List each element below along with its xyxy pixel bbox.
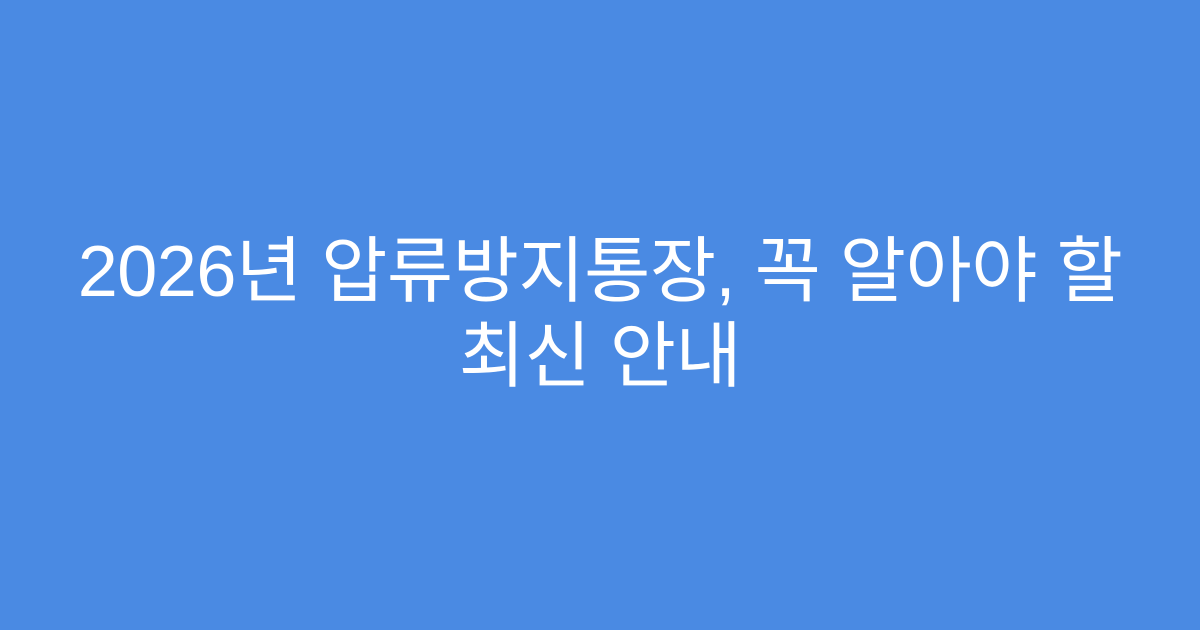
card-content: 2026년 압류방지통장, 꼭 알아야 할 최신 안내 <box>70 230 1130 400</box>
social-card: 2026년 압류방지통장, 꼭 알아야 할 최신 안내 <box>0 0 1200 630</box>
page-title: 2026년 압류방지통장, 꼭 알아야 할 최신 안내 <box>70 230 1130 400</box>
